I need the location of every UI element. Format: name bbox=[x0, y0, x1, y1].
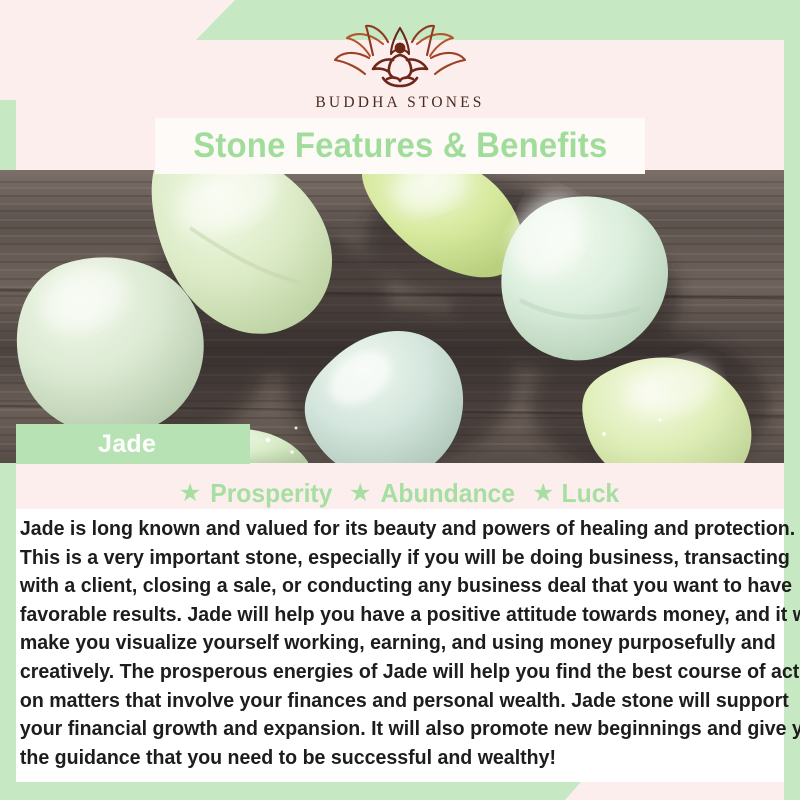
description-line: make you visualize yourself working, ear… bbox=[16, 629, 757, 658]
star-icon: ★ bbox=[349, 481, 371, 506]
description-block: Jade is long known and valued for its be… bbox=[16, 509, 784, 782]
page-title: Stone Features & Benefits bbox=[193, 126, 607, 166]
description-line: creatively. The prosperous energies of J… bbox=[16, 658, 757, 687]
star-icon: ★ bbox=[179, 481, 201, 506]
description-line: This is a very important stone, especial… bbox=[16, 544, 757, 573]
stone-name-label: Jade bbox=[98, 430, 156, 459]
description-line: favorable results. Jade will help you ha… bbox=[16, 601, 757, 630]
stone-name-tag: Jade bbox=[16, 424, 250, 464]
description-line: with a client, closing a sale, or conduc… bbox=[16, 572, 757, 601]
jade-stones-photo bbox=[0, 170, 784, 463]
description-line: on matters that involve your finances an… bbox=[16, 687, 757, 716]
description-line: Jade is long known and valued for its be… bbox=[16, 515, 757, 544]
benefit-item-abundance: ★ Abundance bbox=[349, 478, 519, 509]
benefit-item-prosperity: ★ Prosperity bbox=[179, 478, 336, 509]
jade-stones-illustration bbox=[0, 170, 784, 463]
description-line: your financial growth and expansion. It … bbox=[16, 715, 757, 744]
description-line: the guidance that you need to be success… bbox=[16, 744, 757, 773]
benefit-item-luck: ★ Luck bbox=[532, 478, 621, 509]
brand-block: BUDDHA STONES bbox=[0, 22, 800, 112]
benefit-label: Luck bbox=[562, 478, 620, 509]
benefit-label: Abundance bbox=[381, 478, 515, 509]
product-infographic-page: BUDDHA STONES bbox=[0, 0, 800, 800]
brand-name: BUDDHA STONES bbox=[0, 94, 800, 112]
benefit-label: Prosperity bbox=[211, 478, 333, 509]
section-title-banner: Stone Features & Benefits bbox=[155, 118, 645, 174]
star-icon: ★ bbox=[532, 481, 554, 506]
lotus-meditation-icon bbox=[325, 22, 475, 90]
benefits-row: ★ Prosperity ★ Abundance ★ Luck bbox=[0, 478, 800, 509]
